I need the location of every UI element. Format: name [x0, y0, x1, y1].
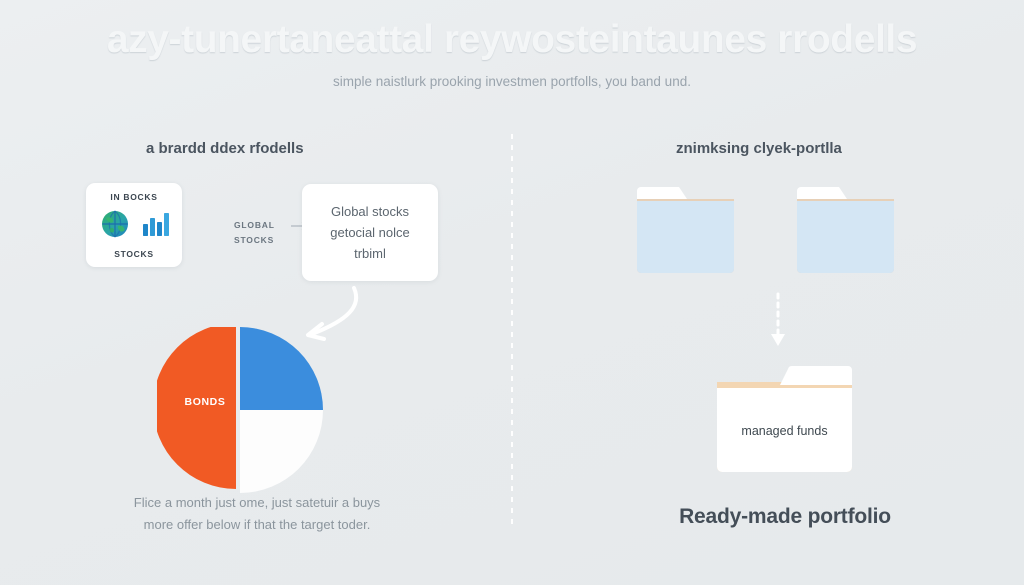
vertical-divider [511, 134, 513, 526]
icon-card-bottom-label: STOCKS [86, 249, 182, 259]
description-card-text: Global stocks getocial nolce trbiml [322, 201, 418, 264]
ready-made-portfolio-label: Ready-made portfolio [565, 505, 1005, 529]
page-subtitle: simple naistlurk prooking investmen port… [0, 74, 1024, 89]
folder-icon-main [714, 366, 855, 475]
icon-card-top-label: IN BOCKS [86, 192, 182, 202]
folder-icon-right [795, 185, 896, 275]
left-caption: Flice a month just ome, just satetuir a … [62, 492, 452, 536]
left-section-heading: a brardd ddex rfodells [146, 140, 304, 157]
global-stocks-label: GLOBAL STOCKS [234, 218, 290, 248]
folder-icon-left [635, 185, 736, 275]
infographic-canvas: azy-tunertaneattal reywosteintaunes rrod… [0, 0, 1024, 585]
pie-chart [157, 327, 323, 493]
page-title: azy-tunertaneattal reywosteintaunes rrod… [0, 18, 1024, 62]
bar-chart-icon [142, 211, 170, 237]
description-card: Global stocks getocial nolce trbiml [302, 184, 438, 281]
globe-icon [100, 209, 130, 239]
right-section-heading: znimksing clyek-portlla [676, 140, 842, 157]
down-arrow-icon [767, 292, 789, 350]
icon-card: IN BOCKS STOCKS [86, 183, 182, 267]
